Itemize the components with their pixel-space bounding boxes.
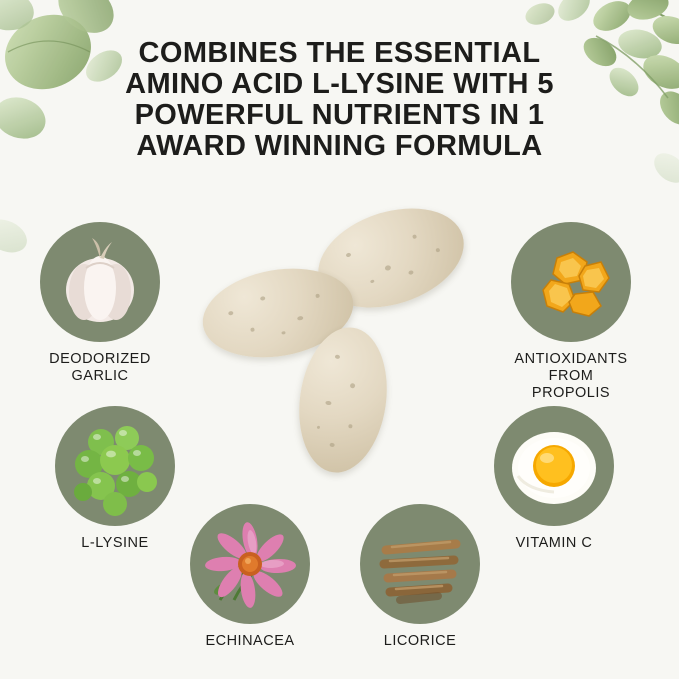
ingredient-label: LICORICE [360,633,480,650]
ingredient-label: ECHINACEA [190,633,310,650]
ingredient-label: ANTIOXIDANTS FROM PROPOLIS [511,351,631,402]
garlic-bulb-icon [40,222,160,342]
ingredient-l-lysine: L-LYSINE [55,406,175,552]
egg-yolk-icon [494,406,614,526]
leaf-accent-left [0,213,32,259]
green-peas-icon [55,406,175,526]
ingredient-label: VITAMIN C [494,535,614,552]
honeycomb-icon [511,222,631,342]
headline-line-2: AMINO ACID L-LYSINE WITH 5 [60,69,619,100]
garlic-disc [40,222,160,342]
echinacea-disc [190,504,310,624]
ingredient-deodorized-garlic: DEODORIZED GARLIC [40,222,160,385]
ingredient-licorice: LICORICE [360,504,480,650]
headline-line-1: COMBINES THE ESSENTIAL [60,38,619,69]
ingredient-echinacea: ECHINACEA [190,504,310,650]
licorice-root-icon [360,504,480,624]
propolis-disc [511,222,631,342]
echinacea-flower-icon [190,504,310,624]
ingredient-label: L-LYSINE [55,535,175,552]
ingredient-antioxidants-from-propolis: ANTIOXIDANTS FROM PROPOLIS [511,222,631,402]
ingredient-label: DEODORIZED GARLIC [40,351,160,385]
headline-line-3: POWERFUL NUTRIENTS IN 1 [60,100,619,131]
vitamin-c-disc [494,406,614,526]
headline-line-4: AWARD WINNING FORMULA [60,131,619,162]
l-lysine-disc [55,406,175,526]
ingredient-vitamin-c: VITAMIN C [494,406,614,552]
headline: COMBINES THE ESSENTIAL AMINO ACID L-LYSI… [0,38,679,162]
licorice-disc [360,504,480,624]
product-infographic: COMBINES THE ESSENTIAL AMINO ACID L-LYSI… [0,0,679,679]
